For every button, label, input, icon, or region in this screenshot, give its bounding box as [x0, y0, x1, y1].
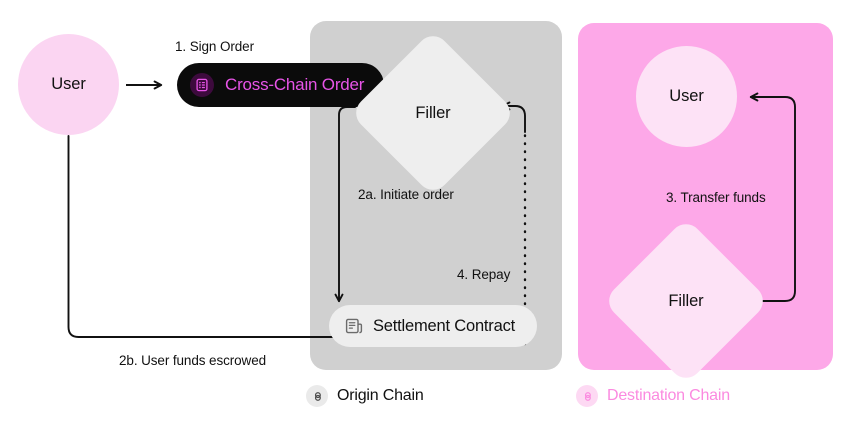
origin-filler-label: Filler: [415, 104, 450, 123]
contract-document-icon: [345, 317, 363, 335]
legend-destination-chain-label: Destination Chain: [607, 387, 730, 405]
destination-filler-node[interactable]: Filler: [627, 242, 745, 360]
legend-destination-chain: Destination Chain: [576, 385, 730, 407]
diagram-canvas: User Cross-Chain Order Filler: [0, 0, 850, 425]
chain-link-icon: [306, 385, 328, 407]
chain-link-icon: [576, 385, 598, 407]
settlement-contract-label: Settlement Contract: [373, 317, 515, 336]
step-label-initiate-order: 2a. Initiate order: [358, 187, 454, 202]
step-label-repay: 4. Repay: [457, 267, 510, 282]
step-label-user-funds-escrowed: 2b. User funds escrowed: [119, 353, 266, 368]
settlement-contract-card[interactable]: Settlement Contract: [329, 305, 537, 347]
origin-user-label: User: [51, 75, 85, 94]
origin-user-node[interactable]: User: [18, 34, 119, 135]
order-document-icon: [190, 73, 214, 97]
destination-user-label: User: [669, 87, 703, 106]
step-label-transfer-funds: 3. Transfer funds: [666, 190, 766, 205]
legend-origin-chain: Origin Chain: [306, 385, 424, 407]
destination-user-node[interactable]: User: [636, 46, 737, 147]
destination-filler-label: Filler: [668, 292, 703, 311]
cross-chain-order-card[interactable]: Cross-Chain Order: [177, 63, 384, 107]
step-label-sign-order: 1. Sign Order: [175, 39, 254, 54]
legend-origin-chain-label: Origin Chain: [337, 387, 424, 405]
cross-chain-order-label: Cross-Chain Order: [225, 75, 364, 95]
origin-filler-node[interactable]: Filler: [374, 54, 492, 172]
